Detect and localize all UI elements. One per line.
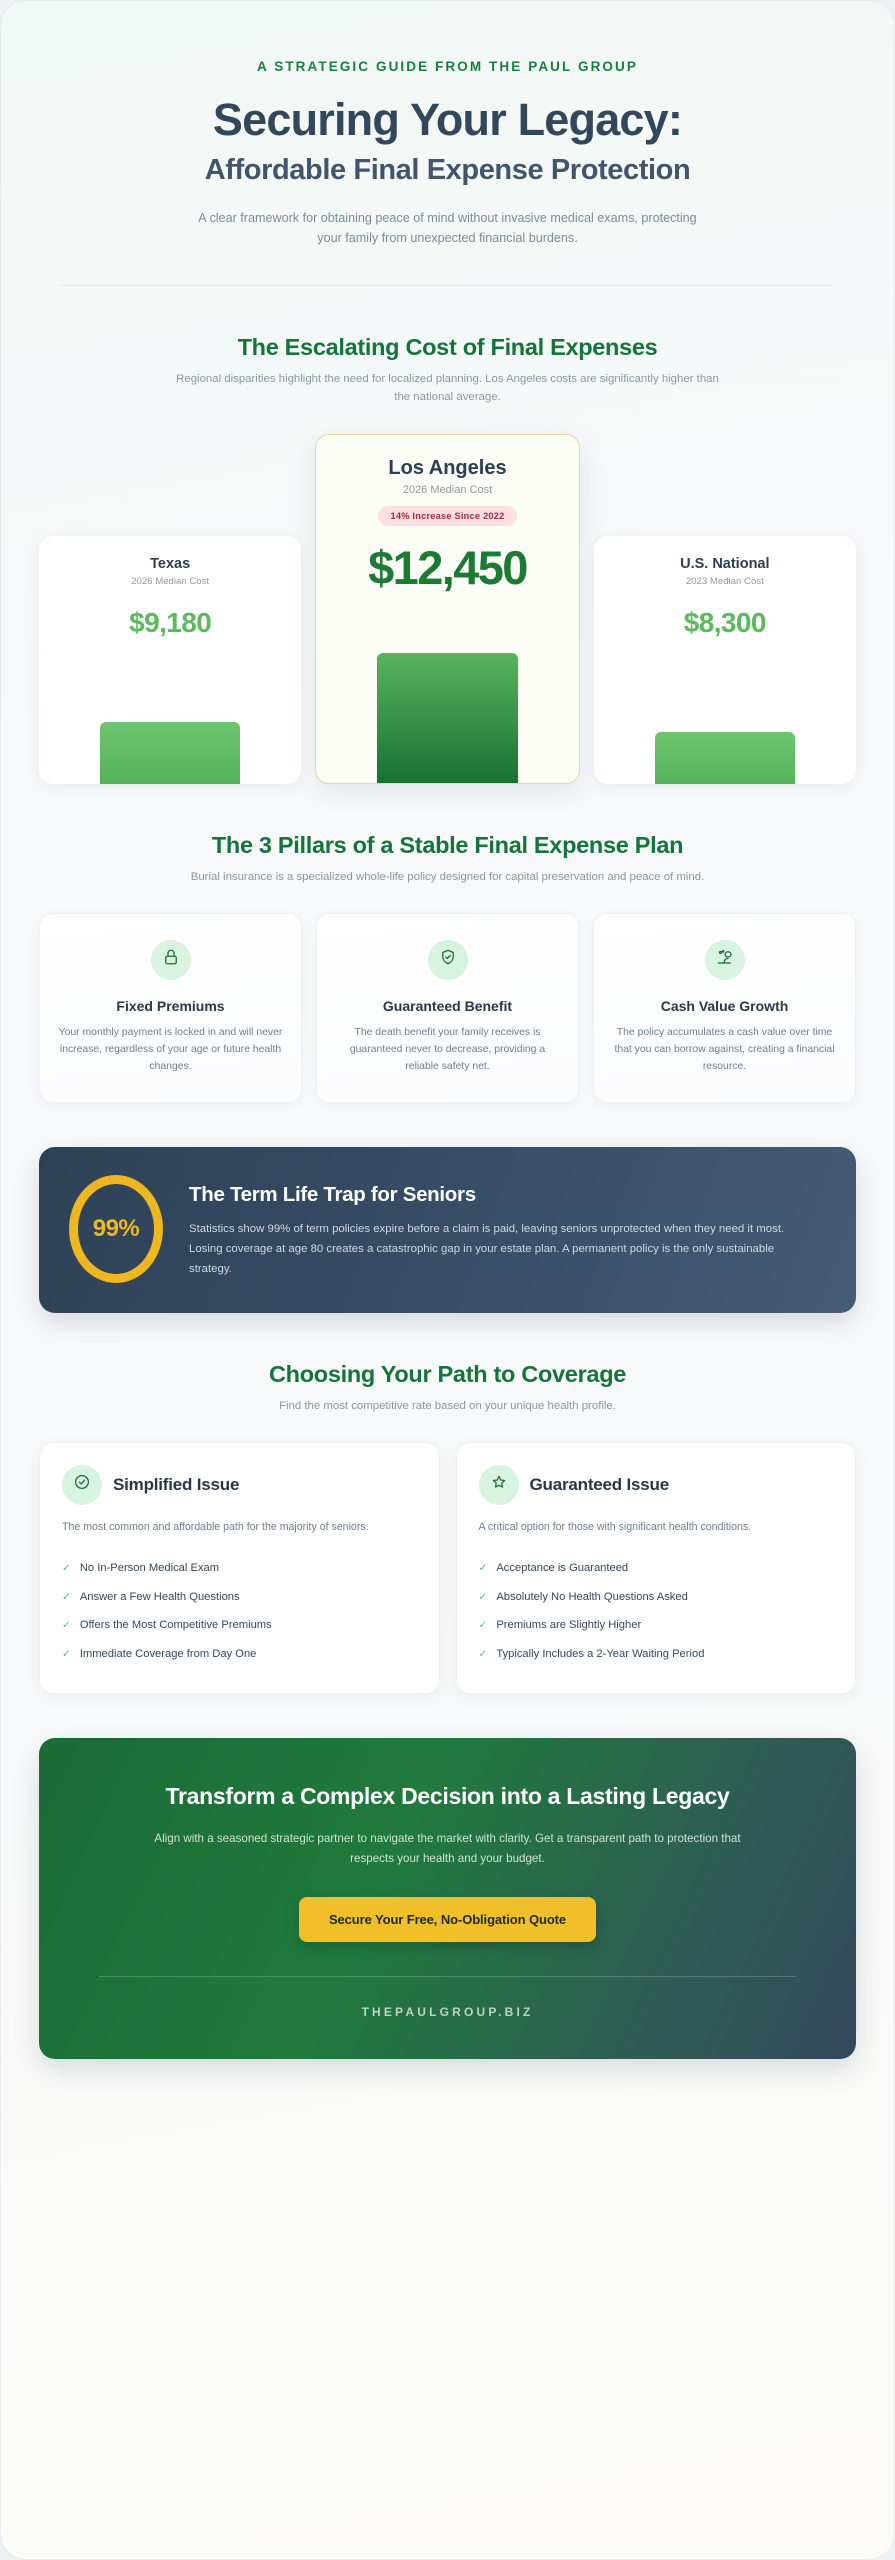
path-row: Simplified Issue The most common and aff… xyxy=(39,1442,856,1694)
stat-ring-label: 99% xyxy=(93,1215,140,1243)
trap-text-block: The Term Life Trap for Seniors Statistic… xyxy=(189,1175,799,1280)
check-icon: ✓ xyxy=(62,1560,71,1576)
pillar-description: The policy accumulates a cash value over… xyxy=(612,1025,837,1076)
path-card-simplified-issue: Simplified Issue The most common and aff… xyxy=(39,1442,440,1694)
page-subtitle: Affordable Final Expense Protection xyxy=(61,154,834,186)
trap-title: The Term Life Trap for Seniors xyxy=(189,1175,799,1207)
path-card-list: ✓ No In-Person Medical Exam ✓ Answer a F… xyxy=(62,1554,417,1669)
pillar-description: The death benefit your family receives i… xyxy=(335,1025,560,1076)
cost-card-name: Texas xyxy=(150,556,190,572)
check-circle-icon xyxy=(73,1473,91,1496)
pillars-row: Fixed Premiums Your monthly payment is l… xyxy=(39,913,856,1103)
cost-card-name: U.S. National xyxy=(680,556,769,572)
path-icon-wrapper xyxy=(62,1465,102,1505)
cost-card-value: $9,180 xyxy=(129,607,211,639)
list-item-label: Premiums are Slightly Higher xyxy=(496,1617,641,1634)
cost-card-bar-area xyxy=(53,639,287,784)
pillars-section-subtitle: Burial insurance is a specialized whole-… xyxy=(168,869,728,887)
check-icon: ✓ xyxy=(62,1589,71,1605)
check-icon: ✓ xyxy=(479,1646,488,1662)
cost-card-texas: Texas 2026 Median Cost $9,180 xyxy=(39,536,301,784)
cost-card-us-national: U.S. National 2023 Median Cost $8,300 xyxy=(594,536,856,784)
path-card-description: A critical option for those with signifi… xyxy=(479,1519,834,1536)
path-card-title: Simplified Issue xyxy=(113,1475,239,1495)
brand-domain: THEPAULGROUP.BIZ xyxy=(99,2005,796,2019)
page-title: Securing Your Legacy: xyxy=(61,96,834,145)
list-item-label: Offers the Most Competitive Premiums xyxy=(80,1617,272,1634)
cost-card-value: $8,300 xyxy=(684,607,766,639)
cost-card-year: 2023 Median Cost xyxy=(686,576,764,587)
path-section-subtitle: Find the most competitive rate based on … xyxy=(168,1398,728,1416)
pillars-section: The 3 Pillars of a Stable Final Expense … xyxy=(1,784,894,1103)
cost-card-bar-area xyxy=(608,639,842,784)
path-icon-wrapper xyxy=(479,1465,519,1505)
list-item-label: Typically Includes a 2-Year Waiting Peri… xyxy=(496,1646,704,1663)
cost-section-header: The Escalating Cost of Final Expenses Re… xyxy=(39,286,856,406)
term-life-trap-banner: 99% The Term Life Trap for Seniors Stati… xyxy=(39,1147,856,1313)
path-card-header: Guaranteed Issue xyxy=(479,1465,834,1505)
check-icon: ✓ xyxy=(62,1646,71,1662)
star-icon xyxy=(490,1473,508,1496)
pillar-card-fixed-premiums: Fixed Premiums Your monthly payment is l… xyxy=(39,913,302,1103)
seedling-growth-icon xyxy=(716,948,734,971)
path-section-title: Choosing Your Path to Coverage xyxy=(39,1361,856,1388)
pillar-card-guaranteed-benefit: Guaranteed Benefit The death benefit you… xyxy=(316,913,579,1103)
list-item-label: Answer a Few Health Questions xyxy=(80,1589,240,1606)
path-card-description: The most common and affordable path for … xyxy=(62,1519,417,1536)
pillar-title: Guaranteed Benefit xyxy=(383,998,512,1016)
cost-chart: Texas 2026 Median Cost $9,180 Los Angele… xyxy=(39,434,856,784)
pillar-icon-wrapper xyxy=(705,940,745,980)
list-item: ✓ Absolutely No Health Questions Asked xyxy=(479,1583,834,1612)
cost-section-subtitle: Regional disparities highlight the need … xyxy=(168,371,728,406)
hero-description: A clear framework for obtaining peace of… xyxy=(198,208,698,249)
path-card-title: Guaranteed Issue xyxy=(530,1475,669,1495)
path-card-guaranteed-issue: Guaranteed Issue A critical option for t… xyxy=(456,1442,857,1694)
check-icon: ✓ xyxy=(479,1560,488,1576)
pillar-card-cash-value-growth: Cash Value Growth The policy accumulates… xyxy=(593,913,856,1103)
hero-eyebrow: A STRATEGIC GUIDE FROM THE PAUL GROUP xyxy=(61,59,834,74)
infographic-page: A STRATEGIC GUIDE FROM THE PAUL GROUP Se… xyxy=(0,0,895,2560)
pillar-title: Fixed Premiums xyxy=(116,998,224,1016)
increase-badge: 14% Increase Since 2022 xyxy=(378,506,516,526)
list-item: ✓ No In-Person Medical Exam xyxy=(62,1554,417,1583)
hero-section: A STRATEGIC GUIDE FROM THE PAUL GROUP Se… xyxy=(1,1,894,249)
secure-quote-button[interactable]: Secure Your Free, No-Obligation Quote xyxy=(299,1897,596,1942)
trap-body: Statistics show 99% of term policies exp… xyxy=(189,1219,799,1280)
list-item: ✓ Typically Includes a 2-Year Waiting Pe… xyxy=(479,1640,834,1669)
stat-ring: 99% xyxy=(69,1175,163,1283)
cost-card-los-angeles: Los Angeles 2026 Median Cost 14% Increas… xyxy=(315,434,579,784)
path-section: Choosing Your Path to Coverage Find the … xyxy=(1,1313,894,1694)
cta-title: Transform a Complex Decision into a Last… xyxy=(99,1782,796,1811)
pillar-icon-wrapper xyxy=(151,940,191,980)
list-item: ✓ Offers the Most Competitive Premiums xyxy=(62,1611,417,1640)
list-item-label: No In-Person Medical Exam xyxy=(80,1560,219,1577)
list-item: ✓ Acceptance is Guaranteed xyxy=(479,1554,834,1583)
cost-section-title: The Escalating Cost of Final Expenses xyxy=(39,334,856,361)
cost-card-name: Los Angeles xyxy=(388,457,506,480)
cost-bar-los-angeles xyxy=(377,653,518,783)
cost-bar-us-national xyxy=(655,732,796,784)
check-icon: ✓ xyxy=(62,1617,71,1633)
list-item: ✓ Immediate Coverage from Day One xyxy=(62,1640,417,1669)
cost-card-value: $12,450 xyxy=(368,540,527,595)
cost-bar-texas xyxy=(100,722,241,784)
list-item: ✓ Premiums are Slightly Higher xyxy=(479,1611,834,1640)
shield-check-icon xyxy=(439,948,457,971)
check-icon: ✓ xyxy=(479,1589,488,1605)
pillars-section-title: The 3 Pillars of a Stable Final Expense … xyxy=(39,832,856,859)
list-item: ✓ Answer a Few Health Questions xyxy=(62,1583,417,1612)
lock-icon xyxy=(162,948,180,971)
pillar-description: Your monthly payment is locked in and wi… xyxy=(58,1025,283,1076)
path-card-list: ✓ Acceptance is Guaranteed ✓ Absolutely … xyxy=(479,1554,834,1669)
cta-divider xyxy=(99,1976,796,1977)
pillars-section-header: The 3 Pillars of a Stable Final Expense … xyxy=(39,784,856,887)
cta-description: Align with a seasoned strategic partner … xyxy=(148,1829,748,1869)
path-section-header: Choosing Your Path to Coverage Find the … xyxy=(39,1313,856,1416)
pillar-icon-wrapper xyxy=(428,940,468,980)
pillar-title: Cash Value Growth xyxy=(661,998,789,1016)
cost-section: The Escalating Cost of Final Expenses Re… xyxy=(1,286,894,784)
cta-banner: Transform a Complex Decision into a Last… xyxy=(39,1738,856,2059)
path-card-header: Simplified Issue xyxy=(62,1465,417,1505)
cost-card-year: 2026 Median Cost xyxy=(131,576,209,587)
check-icon: ✓ xyxy=(479,1617,488,1633)
cost-card-year: 2026 Median Cost xyxy=(403,484,492,496)
list-item-label: Absolutely No Health Questions Asked xyxy=(496,1589,688,1606)
cost-card-bar-area xyxy=(330,595,564,783)
list-item-label: Acceptance is Guaranteed xyxy=(496,1560,628,1577)
list-item-label: Immediate Coverage from Day One xyxy=(80,1646,257,1663)
